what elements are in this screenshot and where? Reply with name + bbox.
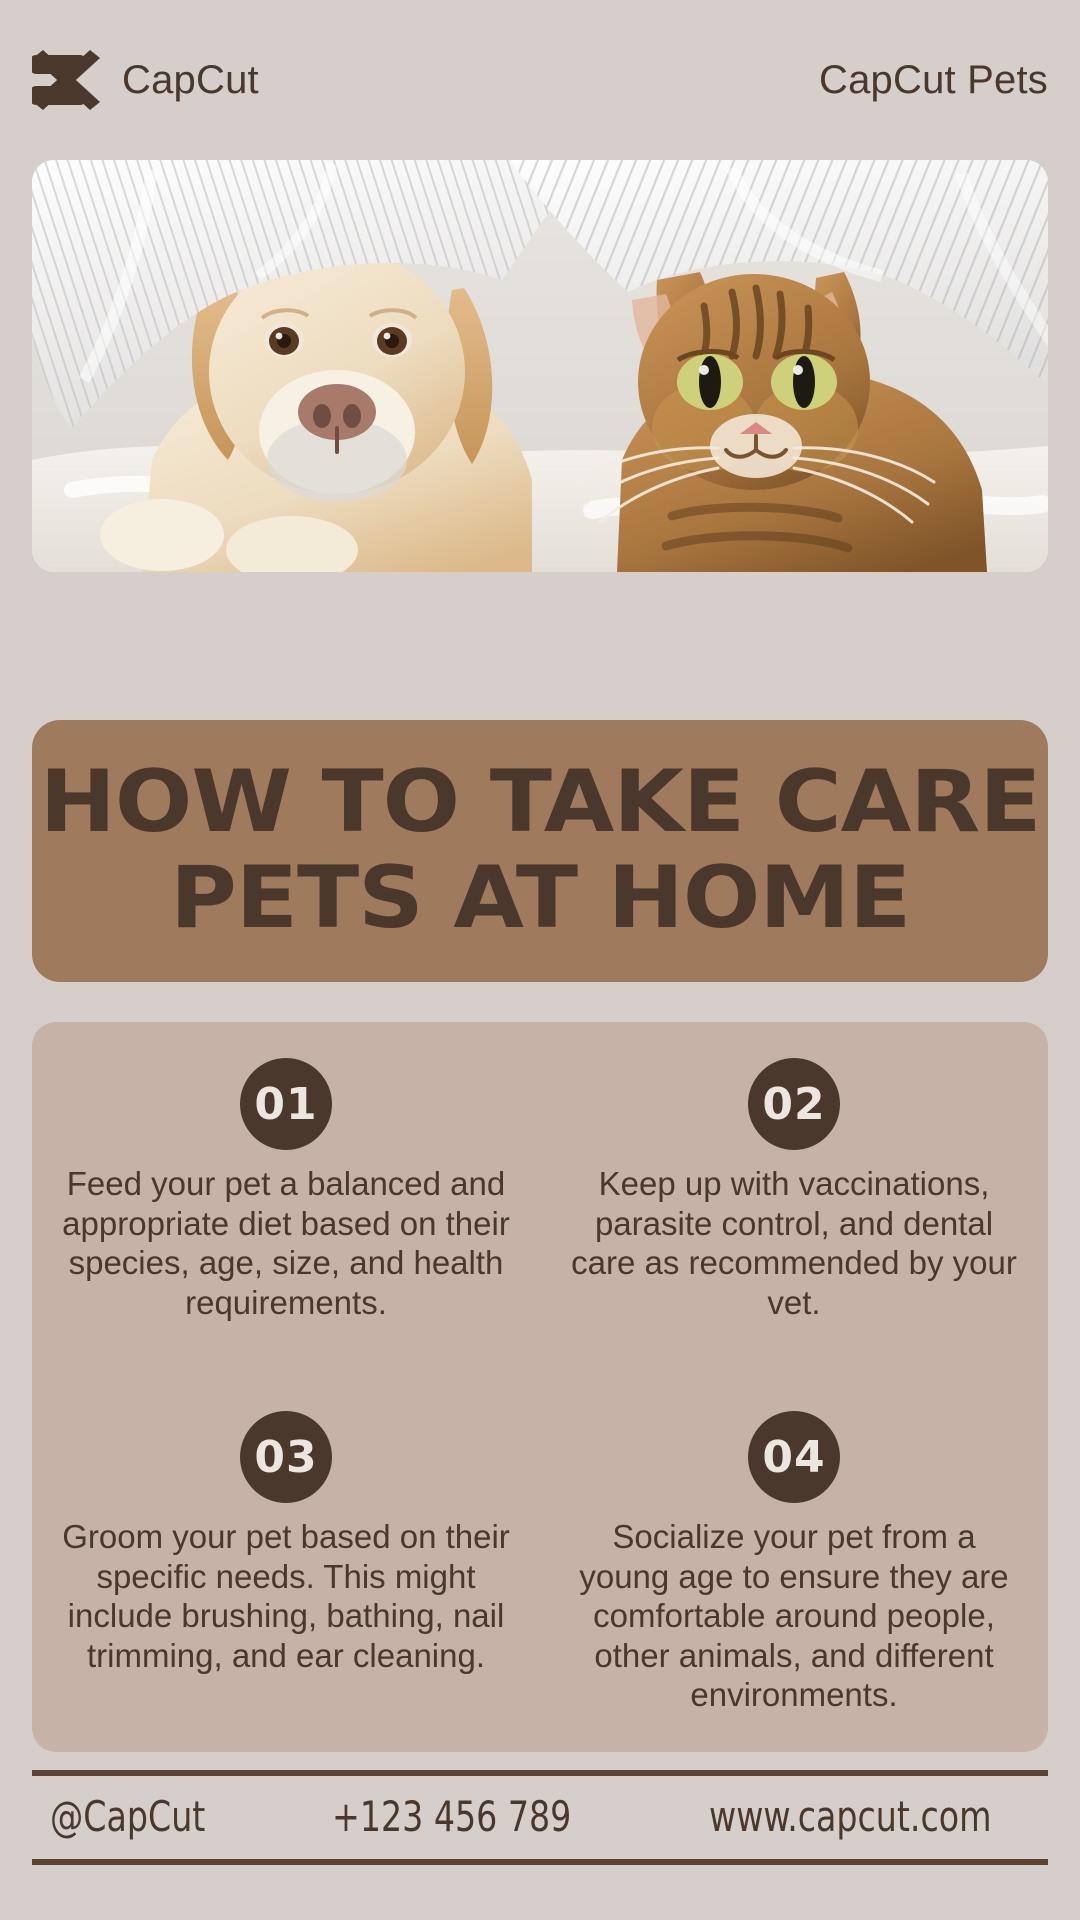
tip-item-03: 03 Groom your pet based on their specifi… [32, 1399, 540, 1752]
tip-text: Feed your pet a balanced and appropriate… [56, 1164, 516, 1322]
capcut-logo-icon [32, 49, 104, 111]
title-banner: HOW TO TAKE CARE PETS AT HOME [32, 720, 1048, 982]
footer-contact-row: @CapCut +123 456 789 www.capcut.com [32, 1776, 1048, 1859]
tip-number-badge: 01 [240, 1058, 332, 1150]
tips-grid: 01 Feed your pet a balanced and appropri… [32, 1046, 1048, 1752]
page-footer: @CapCut +123 456 789 www.capcut.com [32, 1770, 1048, 1865]
tip-text: Socialize your pet from a young age to e… [564, 1517, 1024, 1715]
tip-number-badge: 03 [240, 1411, 332, 1503]
brand-name: CapCut [122, 58, 259, 103]
hero-photo [32, 160, 1048, 572]
brand: CapCut [32, 49, 259, 111]
tip-text: Keep up with vaccinations, parasite cont… [564, 1164, 1024, 1322]
tip-number-badge: 04 [748, 1411, 840, 1503]
tip-item-04: 04 Socialize your pet from a young age t… [540, 1399, 1048, 1752]
tip-item-01: 01 Feed your pet a balanced and appropri… [32, 1046, 540, 1399]
title-line-2: PETS AT HOME [170, 855, 910, 943]
infographic-page: CapCut CapCut Pets [0, 0, 1080, 1920]
footer-handle[interactable]: @CapCut [50, 1792, 205, 1841]
tips-card: 01 Feed your pet a balanced and appropri… [32, 1022, 1048, 1752]
footer-website[interactable]: www.capcut.com [709, 1792, 991, 1841]
tip-text: Groom your pet based on their specific n… [56, 1517, 516, 1675]
page-header: CapCut CapCut Pets [0, 0, 1080, 160]
header-right-label: CapCut Pets [819, 58, 1048, 103]
footer-rule-bottom [32, 1859, 1048, 1865]
tip-number-badge: 02 [748, 1058, 840, 1150]
footer-phone[interactable]: +123 456 789 [332, 1792, 571, 1841]
tip-item-02: 02 Keep up with vaccinations, parasite c… [540, 1046, 1048, 1399]
title-line-1: HOW TO TAKE CARE [40, 759, 1041, 847]
